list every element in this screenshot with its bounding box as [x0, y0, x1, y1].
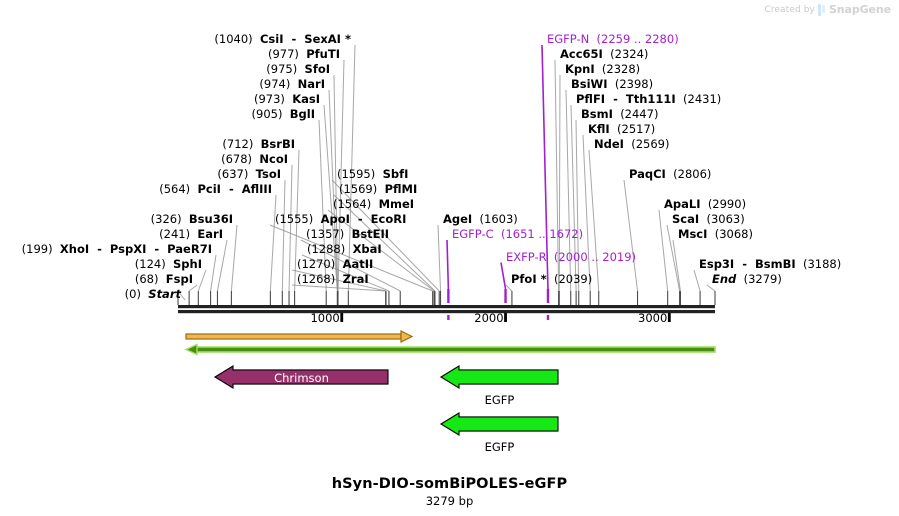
leader-line [589, 150, 599, 291]
sequence-ruler [178, 305, 715, 322]
leader-line [231, 225, 237, 291]
enzyme-label-agei[interactable]: AgeI (1603) [443, 213, 518, 225]
enzyme-label-scai[interactable]: ScaI (3063) [672, 213, 745, 225]
primer-tick-lower [547, 315, 549, 320]
enzyme-label-sfoi[interactable]: (975) SfoI [0, 63, 330, 75]
leader-line [624, 180, 638, 291]
enzyme-label-acc65i[interactable]: Acc65I (2324) [560, 48, 648, 60]
ruler-label-2000: 2000 [474, 311, 503, 325]
enzyme-label-pflmi[interactable]: (1569) PflMI [339, 183, 417, 195]
ruler-tick [340, 313, 343, 322]
enzyme-label-fspi[interactable]: (68) FspI [0, 273, 193, 285]
enzyme-label-sphi[interactable]: (124) SphI [0, 258, 202, 270]
enzyme-label-pfuti[interactable]: (977) PfuTI [0, 48, 340, 60]
promoter-head [401, 331, 412, 342]
leader-line [694, 270, 700, 291]
enzyme-label-bsrbi[interactable]: (712) BsrBI [0, 138, 295, 150]
enzyme-label-aatii[interactable]: (1270) AatII [297, 258, 373, 270]
enzyme-label-csii[interactable]: (1040) CsiI - SexAI * [0, 33, 351, 45]
enzyme-label-xhoi[interactable]: (199) XhoI - PspXI - PaeR7I [0, 243, 212, 255]
enzyme-label-ncoi[interactable]: (678) NcoI [0, 153, 288, 165]
enzyme-label-sbfi[interactable]: (1595) SbfI [337, 168, 408, 180]
enzyme-label-paqci[interactable]: PaqCI (2806) [629, 168, 711, 180]
primer-tick [547, 289, 549, 303]
leader-line [217, 240, 227, 291]
primer-label-egfp-c[interactable]: EGFP-C (1651 .. 1672) [452, 228, 583, 240]
promoter-body[interactable] [186, 334, 401, 339]
leader-line [576, 120, 579, 291]
primer-tick-lower [447, 315, 449, 320]
leader-line [501, 263, 506, 290]
feature-tracks [186, 331, 715, 435]
feature-arrow[interactable] [215, 366, 388, 388]
enzyme-label-zrai[interactable]: (1268) ZraI [297, 273, 369, 285]
enzyme-label-msci[interactable]: MscI (3068) [678, 228, 753, 240]
feature-label-egfp: EGFP [485, 440, 515, 454]
ruler-label-3000: 3000 [638, 311, 667, 325]
primer-tick [447, 289, 449, 303]
enzyme-label-kfli[interactable]: KflI (2517) [588, 123, 655, 135]
feature-arrow[interactable] [441, 366, 558, 388]
enzyme-label-pflfi[interactable]: PflFI - Tth111I (2431) [576, 93, 721, 105]
backbone-body[interactable] [195, 347, 715, 352]
enzyme-label-apali[interactable]: ApaLI (2990) [664, 198, 746, 210]
leader-line [289, 165, 292, 291]
enzyme-label-mmei[interactable]: (1564) MmeI [333, 198, 414, 210]
enzyme-label-xbai[interactable]: (1288) XbaI [307, 243, 382, 255]
enzyme-label-kasi[interactable]: (973) KasI [0, 93, 320, 105]
leader-line [282, 180, 285, 291]
leader-line [673, 240, 680, 291]
enzyme-label-esp3i[interactable]: Esp3I - BsmBI (3188) [699, 258, 841, 270]
leader-line [198, 270, 206, 291]
ruler-bar-bottom [178, 310, 715, 313]
enzyme-label-start[interactable]: (0) Start [0, 288, 181, 300]
leader-line [211, 255, 216, 291]
enzyme-label-ndei[interactable]: NdeI (2569) [594, 138, 670, 150]
enzyme-label-tsoi[interactable]: (637) TsoI [0, 168, 281, 180]
ruler-tick [504, 313, 507, 322]
backbone-head [186, 345, 197, 355]
enzyme-label-bsmi[interactable]: BsmI (2447) [581, 108, 658, 120]
enzyme-label-pfoi[interactable]: PfoI * (2039) [511, 273, 592, 285]
enzyme-label-end[interactable]: End (3279) [712, 273, 782, 285]
ruler-bar-top [178, 305, 715, 308]
enzyme-label-bsteii[interactable]: (1357) BstEII [306, 228, 389, 240]
leader-line [659, 210, 668, 291]
enzyme-label-apoi[interactable]: (1555) ApoI - EcoRI [275, 213, 406, 225]
ruler-label-1000: 1000 [310, 311, 339, 325]
enzyme-label-eari[interactable]: (241) EarI [0, 228, 223, 240]
page-subtitle: 3279 bp [0, 494, 899, 508]
enzyme-label-nari[interactable]: (974) NarI [0, 78, 325, 90]
primer-label-exfp-r[interactable]: EXFP-R (2000 .. 2019) [506, 251, 636, 263]
feature-arrow[interactable] [441, 413, 558, 435]
enzyme-label-pcii[interactable]: (564) PciI - AflIII [0, 183, 272, 195]
leader-line [447, 240, 448, 289]
primer-label-egfp-n[interactable]: EGFP-N (2259 .. 2280) [547, 33, 679, 45]
page-title: hSyn-DIO-somBiPOLES-eGFP [0, 476, 899, 492]
leader-line [438, 225, 441, 291]
enzyme-label-bgli[interactable]: (905) BglI [0, 108, 315, 120]
ruler-tick [668, 313, 671, 322]
leader-line [270, 195, 276, 291]
enzyme-label-kpni[interactable]: KpnI (2328) [565, 63, 640, 75]
feature-label-egfp: EGFP [485, 393, 515, 407]
enzyme-label-bsiwi[interactable]: BsiWI (2398) [571, 78, 653, 90]
primer-tick [504, 289, 506, 303]
enzyme-label-bsu36i[interactable]: (326) Bsu36I [0, 213, 233, 225]
